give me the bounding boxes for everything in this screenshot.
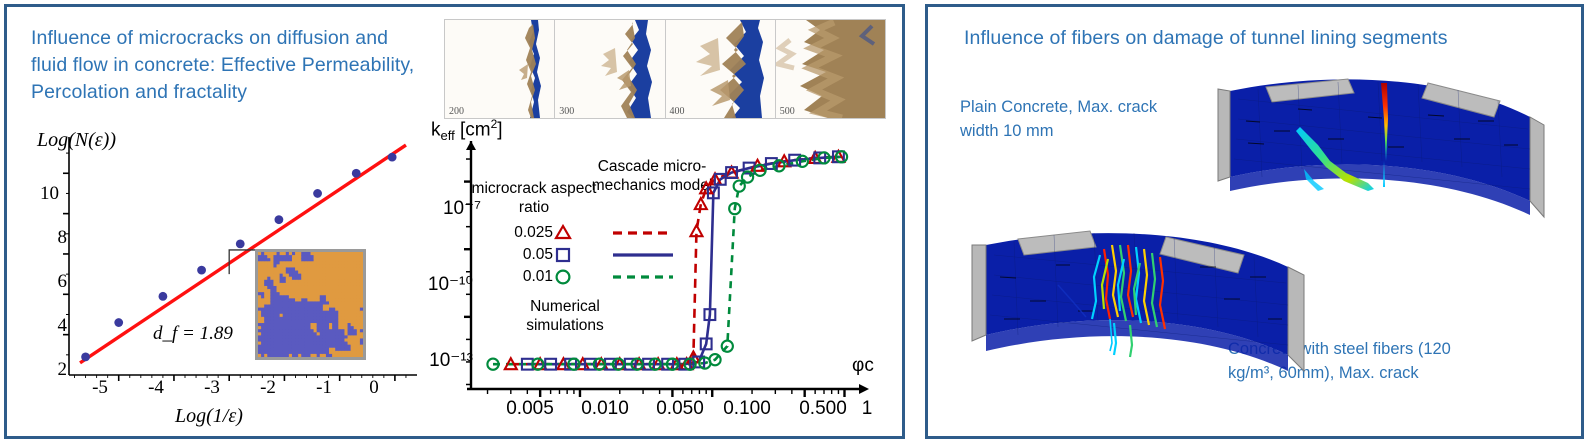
fractal-dimension-chart: Log(N(ε)) Log(1/ε) d_f = 1.89 2 4 6 8 10… xyxy=(25,127,425,437)
plain-concrete-label: Plain Concrete, Max. crack width 10 mm xyxy=(960,95,1160,143)
diffusion-frame: 200 xyxy=(445,20,555,118)
diffusion-render xyxy=(445,20,555,118)
diffusion-label: 500 xyxy=(780,106,795,117)
diffusion-label: 300 xyxy=(559,106,574,117)
left-panel: Influence of microcracks on diffusion an… xyxy=(4,4,905,439)
keff-plot-area xyxy=(427,117,897,417)
diffusion-frame: 300 xyxy=(555,20,665,118)
effective-permeability-chart: keff [cm2] 10⁻⁷ 10⁻¹⁰ 10⁻¹³ 0.005 0.010 … xyxy=(427,117,897,437)
tunnel-segment-fiber-render xyxy=(938,215,1338,405)
right-panel-title: Influence of fibers on damage of tunnel … xyxy=(964,25,1564,52)
fractal-x-axis-label: Log(1/ε) xyxy=(175,405,243,428)
right-panel: Influence of fibers on damage of tunnel … xyxy=(925,4,1584,439)
diffusion-image-strip: 200 300 40 xyxy=(444,19,886,119)
diffusion-frame: 400 xyxy=(666,20,776,118)
diffusion-label: 400 xyxy=(670,106,685,117)
diffusion-render xyxy=(555,20,665,118)
percolation-cluster-inset xyxy=(255,249,366,360)
percolation-cluster-render xyxy=(258,252,363,357)
diffusion-frame: 500 xyxy=(776,20,885,118)
left-panel-title: Influence of microcracks on diffusion an… xyxy=(31,25,421,106)
figure-root: Influence of microcracks on diffusion an… xyxy=(0,0,1588,443)
diffusion-label: 200 xyxy=(449,106,464,117)
diffusion-render xyxy=(666,20,776,118)
diffusion-render xyxy=(776,20,885,118)
